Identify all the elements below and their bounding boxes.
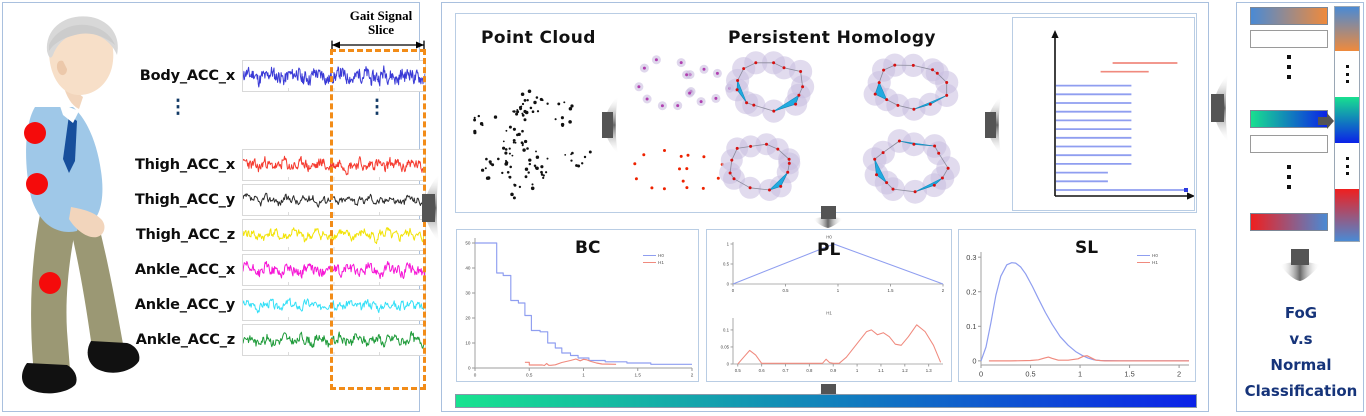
svg-text:0.5: 0.5 bbox=[1025, 369, 1035, 378]
svg-text:0.3: 0.3 bbox=[966, 253, 976, 262]
svg-text:30: 30 bbox=[465, 291, 471, 296]
flow-arrow-to-barcodes bbox=[984, 92, 1004, 158]
svg-text:2: 2 bbox=[691, 373, 694, 378]
svg-text:1.5: 1.5 bbox=[635, 373, 642, 378]
feature-bar-3 bbox=[1250, 110, 1328, 128]
sensor-marker-thigh bbox=[26, 173, 48, 195]
flow-arrow-to-classification bbox=[1278, 248, 1322, 282]
signal-label-body_acc_x: Body_ACC_x bbox=[63, 68, 235, 84]
svg-text:40: 40 bbox=[465, 266, 471, 271]
svg-text:0: 0 bbox=[727, 282, 730, 287]
ellipsis-dot bbox=[1346, 172, 1349, 175]
svg-text:0: 0 bbox=[474, 373, 477, 378]
legend-item-h1: H1 bbox=[1137, 259, 1183, 266]
flow-arrow-left-to-middle bbox=[421, 168, 443, 248]
stack-cell-4 bbox=[1335, 189, 1359, 241]
legend-swatch-h0 bbox=[643, 255, 656, 257]
flow-arrow-down-to-plots bbox=[810, 205, 846, 229]
ellipsis-dot bbox=[1287, 55, 1291, 59]
feature-bar-1 bbox=[1250, 30, 1328, 48]
svg-text:1: 1 bbox=[1078, 369, 1082, 378]
svg-text:0: 0 bbox=[468, 366, 471, 371]
svg-text:H0: H0 bbox=[826, 235, 832, 240]
stack-cell-0 bbox=[1335, 7, 1359, 51]
ellipsis-dot bbox=[1287, 165, 1291, 169]
plot-card-bc: BC 00.511.5201020304050 H0H1 bbox=[456, 229, 699, 382]
classification-line-3: Classification bbox=[1238, 378, 1364, 404]
gait-signal-slice-label: Gait Signal Slice bbox=[329, 9, 433, 37]
svg-text:1.3: 1.3 bbox=[926, 368, 933, 373]
ellipsis-dot bbox=[1346, 165, 1349, 168]
left-panel-sensor-signals: Gait Signal Slice Body_ACC_xThigh_ACC_xT… bbox=[2, 2, 420, 412]
legend-sl: H0H1 bbox=[1137, 252, 1183, 266]
plot-card-sl: SL 00.511.5200.10.20.3 H0H1 bbox=[958, 229, 1196, 382]
plot-title-bc: BC bbox=[575, 238, 600, 258]
svg-text:0.1: 0.1 bbox=[966, 322, 976, 331]
svg-text:0.5: 0.5 bbox=[735, 368, 742, 373]
svg-text:0.5: 0.5 bbox=[723, 262, 730, 267]
signal-label-thigh_acc_x: Thigh_ACC_x bbox=[63, 157, 235, 173]
plot-card-pl: PL 00.511.5200.51H00.50.60.70.80.911.11.… bbox=[706, 229, 952, 382]
feature-vector-gradient-bar bbox=[455, 394, 1197, 408]
legend-swatch-h1 bbox=[643, 262, 656, 264]
legend-text-h0: H0 bbox=[658, 253, 664, 258]
svg-text:0: 0 bbox=[979, 369, 983, 378]
svg-text:0: 0 bbox=[732, 288, 735, 293]
barcode-plot bbox=[1013, 18, 1194, 210]
svg-text:0.1: 0.1 bbox=[723, 328, 730, 333]
classification-label: FoGv.sNormalClassification bbox=[1238, 300, 1364, 404]
point-cloud-raw bbox=[466, 62, 596, 202]
svg-text:0: 0 bbox=[972, 357, 976, 366]
svg-text:0.9: 0.9 bbox=[830, 368, 837, 373]
svg-text:0.7: 0.7 bbox=[783, 368, 790, 373]
barcode-plot-frame bbox=[1012, 17, 1195, 211]
signal-label-ellipsis: ⋮ bbox=[143, 105, 213, 110]
legend-item-h0: H0 bbox=[1137, 252, 1183, 259]
svg-text:2: 2 bbox=[1177, 369, 1181, 378]
classification-line-0: FoG bbox=[1238, 300, 1364, 326]
signal-label-ankle_acc_y: Ankle_ACC_y bbox=[63, 297, 235, 313]
feature-bar-ellipsis bbox=[1284, 160, 1294, 194]
title-point-cloud: Point Cloud bbox=[481, 28, 596, 48]
legend-swatch-h1 bbox=[1137, 262, 1150, 264]
svg-text:1.5: 1.5 bbox=[1124, 369, 1134, 378]
figure-root: Gait Signal Slice Body_ACC_xThigh_ACC_xT… bbox=[0, 0, 1366, 416]
ellipsis-dot bbox=[1287, 75, 1291, 79]
svg-text:1: 1 bbox=[582, 373, 585, 378]
classification-line-2: Normal bbox=[1238, 352, 1364, 378]
svg-text:50: 50 bbox=[465, 241, 471, 246]
feature-bar-4 bbox=[1250, 135, 1328, 153]
ellipsis-dot bbox=[1287, 185, 1291, 189]
flow-arrow-middle-to-right bbox=[1210, 68, 1232, 148]
feature-bar-ellipsis bbox=[1284, 50, 1294, 84]
legend-item-h0: H0 bbox=[643, 252, 689, 259]
ellipsis-dot bbox=[1346, 157, 1349, 160]
svg-text:10: 10 bbox=[465, 341, 471, 346]
signal-label-thigh_acc_z: Thigh_ACC_z bbox=[63, 227, 235, 243]
plot-title-pl: PL bbox=[817, 240, 840, 260]
stack-cell-1 bbox=[1335, 51, 1359, 97]
svg-text:1: 1 bbox=[856, 368, 859, 373]
legend-text-h1: H1 bbox=[1152, 260, 1158, 265]
svg-text:0.8: 0.8 bbox=[806, 368, 813, 373]
svg-text:1.1: 1.1 bbox=[878, 368, 885, 373]
svg-text:0.6: 0.6 bbox=[759, 368, 766, 373]
ellipsis-dot bbox=[1346, 65, 1349, 68]
sensor-marker-hip bbox=[24, 122, 46, 144]
flow-arrow-pointcloud bbox=[601, 92, 621, 158]
classification-line-1: v.s bbox=[1238, 326, 1364, 352]
svg-text:0.2: 0.2 bbox=[966, 287, 976, 296]
signal-label-ankle_acc_z: Ankle_ACC_z bbox=[63, 332, 235, 348]
legend-text-h1: H1 bbox=[658, 260, 664, 265]
svg-text:2: 2 bbox=[942, 288, 945, 293]
sensor-marker-ankle bbox=[39, 272, 61, 294]
svg-text:1: 1 bbox=[837, 288, 840, 293]
legend-swatch-h0 bbox=[1137, 255, 1150, 257]
feature-bar-0 bbox=[1250, 7, 1328, 25]
svg-text:20: 20 bbox=[465, 316, 471, 321]
plot-title-sl: SL bbox=[1075, 238, 1098, 258]
concatenated-feature-column bbox=[1334, 6, 1360, 242]
feature-bar-6 bbox=[1250, 213, 1328, 231]
signal-label-ankle_acc_x: Ankle_ACC_x bbox=[63, 262, 235, 278]
svg-text:0.5: 0.5 bbox=[783, 288, 790, 293]
legend-text-h0: H0 bbox=[1152, 253, 1158, 258]
svg-text:1.2: 1.2 bbox=[902, 368, 909, 373]
flow-arrow-bars-to-column bbox=[1318, 112, 1334, 130]
ellipsis-dot bbox=[1346, 80, 1349, 83]
ellipsis-dot bbox=[1287, 175, 1291, 179]
signal-slice-ellipsis: ⋮ bbox=[355, 105, 399, 110]
ellipsis-dot bbox=[1287, 65, 1291, 69]
svg-text:1.5: 1.5 bbox=[888, 288, 895, 293]
ellipsis-dot bbox=[1346, 73, 1349, 76]
stack-cell-3 bbox=[1335, 143, 1359, 189]
signal-label-thigh_acc_y: Thigh_ACC_y bbox=[63, 192, 235, 208]
svg-text:0.05: 0.05 bbox=[721, 345, 730, 350]
stack-cell-2 bbox=[1335, 97, 1359, 143]
tda-top-subpanel: Point Cloud Persistent Homology Barcodes bbox=[455, 13, 1197, 213]
svg-text:0.5: 0.5 bbox=[526, 373, 533, 378]
legend-bc: H0H1 bbox=[643, 252, 689, 266]
svg-text:H1: H1 bbox=[826, 311, 832, 316]
svg-text:1: 1 bbox=[727, 242, 730, 247]
legend-item-h1: H1 bbox=[643, 259, 689, 266]
svg-text:0: 0 bbox=[727, 362, 730, 367]
